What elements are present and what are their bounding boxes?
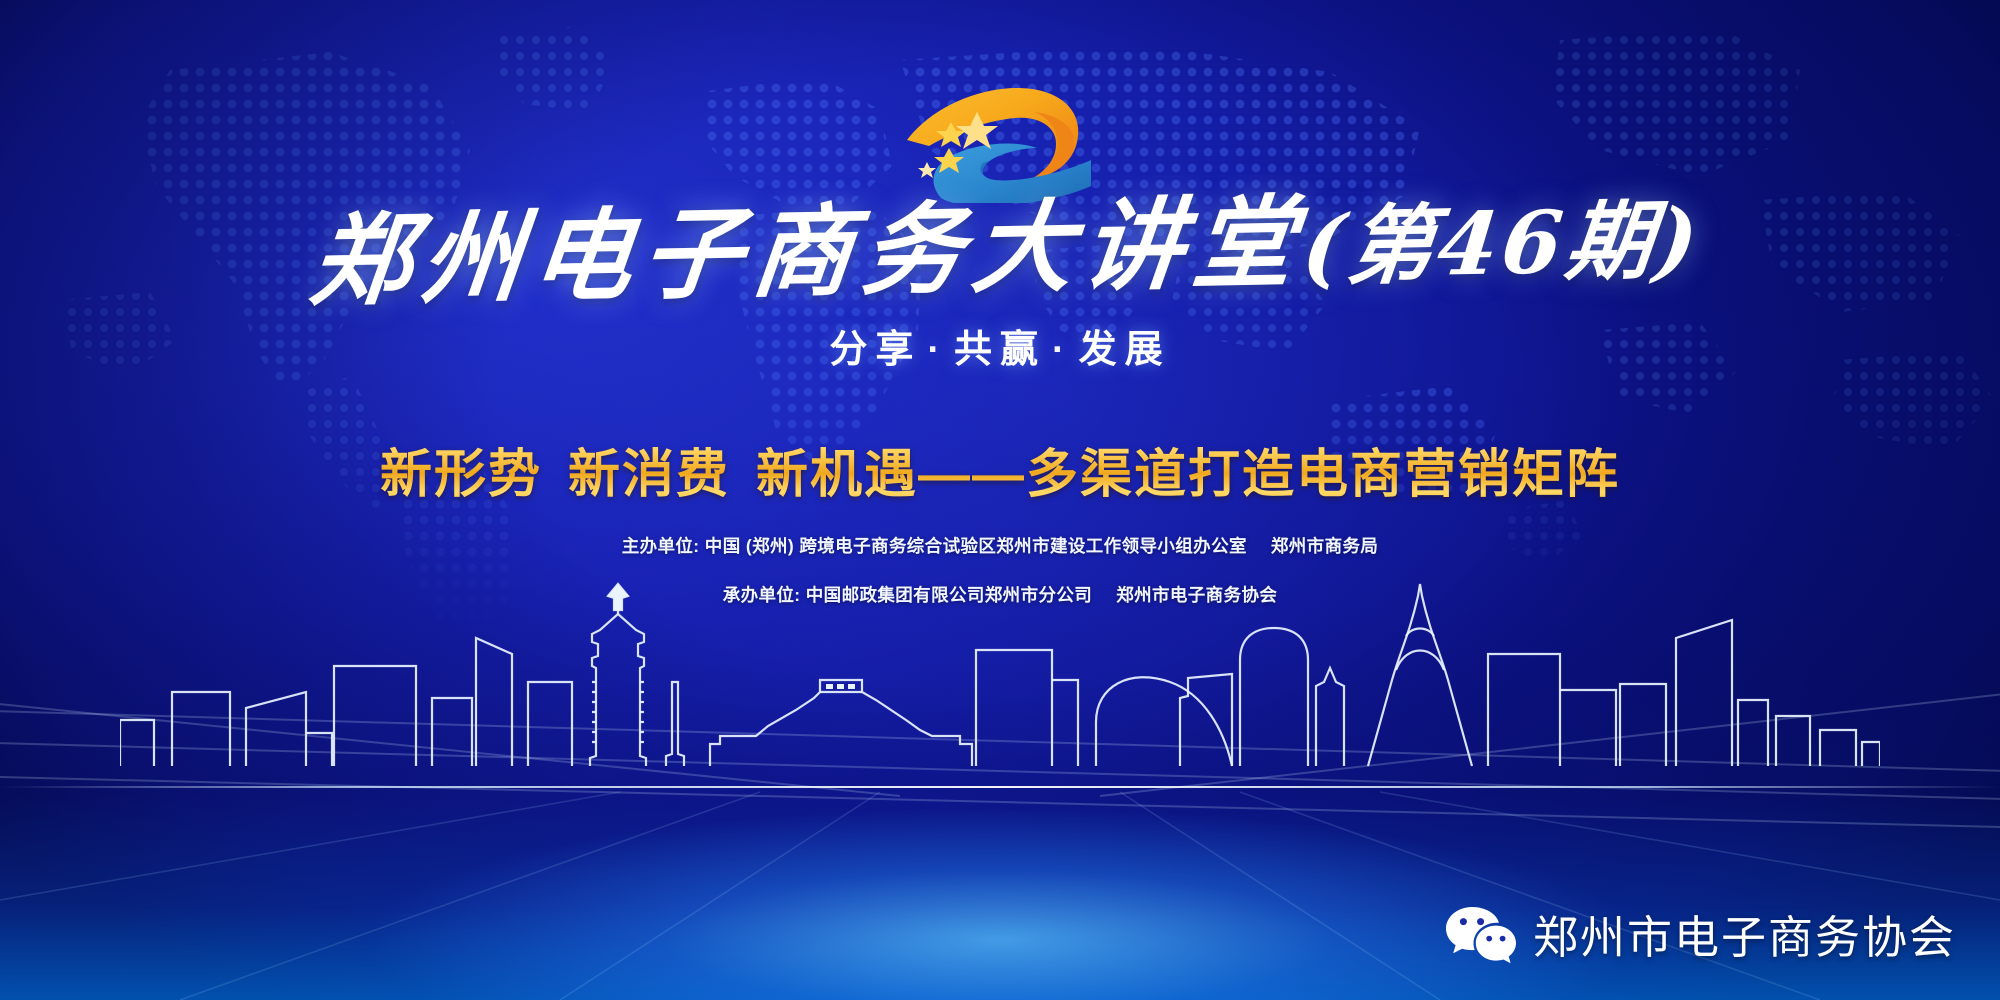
- organizer-label-host: 主办单位:: [622, 536, 700, 556]
- slogan-separator-1: ·: [921, 329, 954, 371]
- slogan-word-3: 发展: [1079, 329, 1171, 371]
- organizer-line-host: 主办单位: 中国 (郑州) 跨境电子商务综合试验区郑州市建设工作领导小组办公室郑…: [0, 533, 2000, 558]
- organizer-line-coorganizer: 承办单位: 中国邮政集团有限公司郑州市分公司郑州市电子商务协会: [0, 582, 2000, 607]
- ground-horizon-line: [0, 786, 2000, 788]
- headline-part-1: 新形势: [380, 446, 542, 504]
- page-title: 郑州电子商务大讲堂(第46期): [0, 196, 2000, 301]
- poster-canvas: 郑州电子商务大讲堂(第46期) 分享·共赢·发展 新形势新消费新机遇——多渠道打…: [0, 0, 2000, 1000]
- organizer-secondary-host: 郑州市商务局: [1271, 536, 1378, 556]
- slogan: 分享·共赢·发展: [0, 318, 2000, 373]
- wechat-icon: [1445, 903, 1517, 965]
- organizer-block: 主办单位: 中国 (郑州) 跨境电子商务综合试验区郑州市建设工作领导小组办公室郑…: [0, 533, 2000, 631]
- headline-part-2: 新消费: [568, 446, 730, 504]
- title-main: 郑州电子商务大讲堂: [306, 183, 1310, 320]
- slogan-word-1: 分享: [829, 329, 921, 371]
- title-issue: (第46期): [1298, 190, 1706, 299]
- wechat-badge[interactable]: 郑州市电子商务协会: [1445, 901, 1956, 966]
- horizon-core-light: [375, 810, 1625, 1000]
- headline: 新形势新消费新机遇——多渠道打造电商营销矩阵: [0, 432, 2000, 507]
- wechat-badge-label: 郑州市电子商务协会: [1533, 901, 1956, 966]
- slogan-separator-2: ·: [1046, 329, 1079, 371]
- zhengzhou-ecommerce-swoosh-logo: [885, 78, 1115, 203]
- headline-part-3: 新机遇——多渠道打造电商营销矩阵: [756, 446, 1620, 504]
- slogan-word-2: 共赢: [954, 329, 1046, 371]
- organizer-secondary-coorganizer: 郑州市电子商务协会: [1116, 585, 1277, 605]
- organizer-primary-coorganizer: 中国邮政集团有限公司郑州市分公司: [806, 585, 1092, 605]
- organizer-primary-host: 中国 (郑州) 跨境电子商务综合试验区郑州市建设工作领导小组办公室: [705, 536, 1247, 556]
- organizer-label-coorganizer: 承办单位:: [723, 585, 801, 605]
